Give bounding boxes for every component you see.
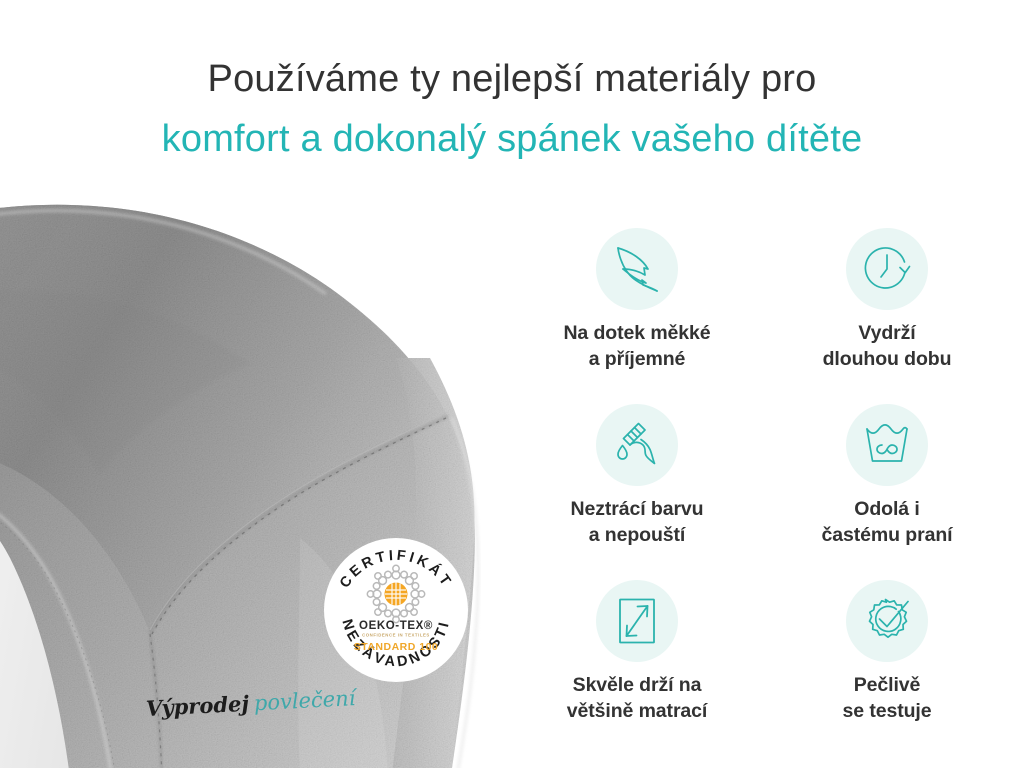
promo-banner: Výprodejpovlečení CERTIFIKÁT NEZÁVADNOST…	[0, 0, 1024, 768]
feature-item-washable: Odolá i častému praní	[762, 404, 1012, 580]
badge-mark-title: OEKO-TEX®	[359, 620, 433, 632]
clock-arrow-icon	[860, 242, 914, 296]
feature-label: Odolá i častému praní	[822, 497, 953, 549]
leaf-icon	[610, 242, 664, 296]
feature-icon-circle	[596, 404, 678, 486]
headline-block: Používáme ty nejlepší materiály pro komf…	[0, 58, 1024, 161]
feature-item-tested: Pečlivě se testuje	[762, 580, 1012, 756]
verified-rosette-icon	[860, 594, 914, 648]
feature-item-fit: Skvěle drží na většině matrací	[512, 580, 762, 756]
headline-secondary: komfort a dokonalý spánek vašeho dítěte	[0, 118, 1024, 162]
oeko-tex-certificate-badge: CERTIFIKÁT NEZÁVADNOSTI	[322, 536, 470, 684]
stretch-arrow-icon	[610, 594, 664, 648]
paintbrush-drop-icon	[610, 418, 664, 472]
feature-item-durable: Vydrží dlouhou dobu	[762, 228, 1012, 404]
feature-grid: Na dotek měkké a příjemné Vydrží dlouhou…	[512, 228, 1012, 756]
feature-icon-circle	[846, 404, 928, 486]
feature-item-soft: Na dotek měkké a příjemné	[512, 228, 762, 404]
feature-label: Na dotek měkké a příjemné	[563, 321, 710, 373]
badge-mark-standard: STANDARD 100	[354, 641, 439, 653]
feature-icon-circle	[596, 580, 678, 662]
feature-item-colorfast: Neztrácí barvu a nepouští	[512, 404, 762, 580]
feature-label: Neztrácí barvu a nepouští	[571, 497, 704, 549]
feature-icon-circle	[846, 580, 928, 662]
feature-label: Pečlivě se testuje	[843, 673, 932, 725]
badge-mark-subtitle: CONFIDENCE IN TEXTILES	[362, 633, 430, 638]
feature-label: Vydrží dlouhou dobu	[823, 321, 952, 373]
feature-icon-circle	[846, 228, 928, 310]
headline-primary: Používáme ty nejlepší materiály pro	[0, 58, 1024, 102]
feature-label: Skvěle drží na většině matrací	[567, 673, 708, 725]
wash-tub-infinity-icon	[860, 418, 914, 472]
feature-icon-circle	[596, 228, 678, 310]
